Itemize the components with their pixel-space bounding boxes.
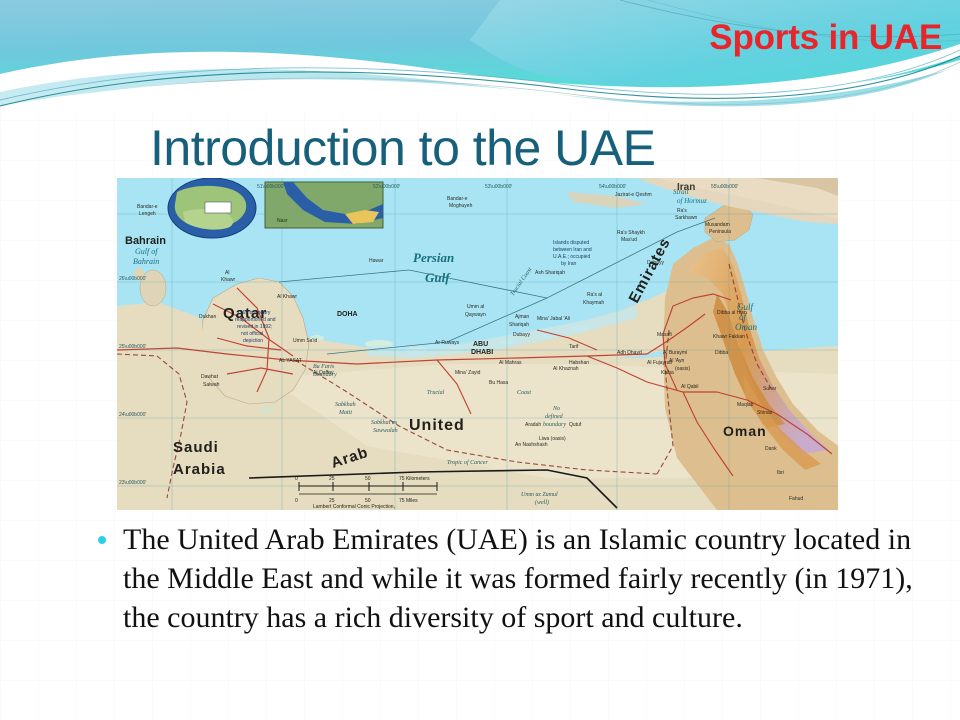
svg-text:Khawr Fakkan: Khawr Fakkan [713,334,745,340]
svg-text:Umm al: Umm al [467,304,484,310]
svg-text:Al Khaznah: Al Khaznah [553,366,579,372]
svg-text:Gulf: Gulf [425,270,451,285]
svg-text:Tarif: Tarif [569,344,579,350]
svg-text:(oasis): (oasis) [675,366,690,372]
svg-text:Moghuyeh: Moghuyeh [449,203,473,209]
svg-text:Khaymah: Khaymah [583,300,604,306]
svg-text:25\u00b000': 25\u00b000' [119,344,146,350]
svg-text:Ibri: Ibri [777,470,784,476]
svg-text:54\u00b000': 54\u00b000' [599,184,626,190]
svg-text:ABU: ABU [473,341,488,348]
svg-text:Bu Hasa: Bu Hasa [489,380,508,386]
svg-text:not official: not official [241,331,263,337]
svg-text:Al Buraymi: Al Buraymi [663,350,687,356]
svg-text:between Iran and: between Iran and [553,247,592,253]
svg-text:51\u00b000': 51\u00b000' [257,184,284,190]
svg-text:Adh Dhayd: Adh Dhayd [617,350,642,356]
svg-text:Ash Shariqah: Ash Shariqah [535,270,565,276]
svg-text:Oman: Oman [723,423,767,439]
svg-text:26\u00b000': 26\u00b000' [119,276,146,282]
bullet-point-icon [98,536,106,544]
globe-inset [168,178,256,238]
svg-text:Jazirat-e Qeshm: Jazirat-e Qeshm [615,192,652,198]
svg-text:AL YASAT: AL YASAT [279,358,302,364]
svg-text:0: 0 [295,498,298,504]
svg-text:Mina' Jabal 'Ali: Mina' Jabal 'Ali [537,316,570,322]
svg-text:Bahrain: Bahrain [125,235,166,247]
svg-text:Oman: Oman [735,322,757,332]
svg-text:23\u00b000': 23\u00b000' [119,480,146,486]
header-title: Sports in UAE [709,18,942,58]
svg-text:Bandar-e: Bandar-e [447,196,468,202]
svg-text:Hawar: Hawar [369,258,384,264]
svg-text:Ajman: Ajman [515,314,529,320]
svg-text:Persian: Persian [413,250,454,265]
svg-text:50: 50 [365,476,371,482]
svg-text:DOHA: DOHA [337,311,358,318]
svg-text:No: No [552,406,560,412]
svg-text:Trucial: Trucial [427,390,445,396]
svg-text:Bu Faris: Bu Faris [313,364,335,370]
svg-text:Dibba: Dibba [715,350,728,356]
content-body: The United Arab Emirates (UAE) is an Isl… [98,520,928,637]
svg-text:Dukhan: Dukhan [199,314,216,320]
svg-text:Ra's: Ra's [677,208,687,214]
svg-text:Bahrain: Bahrain [133,257,159,266]
svg-text:Ra's Shaykh: Ra's Shaykh [617,230,645,236]
svg-text:24\u00b000': 24\u00b000' [119,412,146,418]
slide-header-banner: Sports in UAE [0,0,960,112]
svg-text:Al Mahras: Al Mahras [499,360,522,366]
svg-text:Aradah: Aradah [525,422,541,428]
svg-text:Salwah: Salwah [203,382,220,388]
page-title: Introduction to the UAE [150,122,910,175]
svg-text:Umm az Zumul: Umm az Zumul [521,492,558,498]
svg-text:Shariqah: Shariqah [509,322,529,328]
svg-text:Coast: Coast [517,390,531,396]
svg-text:DHABI: DHABI [471,349,493,356]
svg-text:Tropic of Cancer: Tropic of Cancer [447,459,488,466]
svg-text:depiction: depiction [243,338,263,344]
svg-text:An Nashshash: An Nashshash [515,442,548,448]
svg-text:Matti: Matti [338,410,352,416]
svg-text:Musandam: Musandam [705,222,730,228]
svg-text:Dawhat: Dawhat [201,374,219,380]
svg-text:boundary: boundary [543,422,566,428]
svg-text:Nasr: Nasr [277,218,288,224]
svg-text:Boundary: Boundary [313,372,337,378]
svg-text:U.A.E.; occupied: U.A.E.; occupied [553,254,590,260]
svg-text:75 Kilometers: 75 Kilometers [399,476,430,482]
svg-text:0: 0 [295,476,298,482]
bullet-item: The United Arab Emirates (UAE) is an Isl… [98,520,928,637]
bullet-text: The United Arab Emirates (UAE) is an Isl… [123,520,928,637]
svg-text:Bandar-e: Bandar-e [137,204,158,210]
svg-text:of Hormuz: of Hormuz [677,197,707,205]
svg-text:Gulf of: Gulf of [135,247,159,256]
svg-text:Qutuf: Qutuf [569,422,582,428]
svg-text:Dank: Dank [765,446,777,452]
svg-text:Lengeh: Lengeh [139,211,156,217]
svg-text:Qaywayn: Qaywayn [465,312,486,318]
svg-text:Fahud: Fahud [789,496,803,502]
svg-text:Ar Ruways: Ar Ruways [435,340,460,346]
svg-text:(well): (well) [535,499,549,506]
svg-text:Maqlab: Maqlab [737,402,754,408]
svg-text:Sabkhah: Sabkhah [335,402,356,408]
svg-text:Arabia: Arabia [173,461,226,478]
svg-text:Masafi: Masafi [657,332,672,338]
svg-text:52\u00b000': 52\u00b000' [373,184,400,190]
svg-text:Sarkhawn: Sarkhawn [675,215,697,221]
svg-text:Sawwalah: Sawwalah [373,428,398,434]
svg-text:Shinas: Shinas [757,410,773,416]
uae-region-map: Persian Gulf Gulf of Oman Gulf of Bahrai… [117,178,838,510]
slide-canvas: Sports in UAE Introduction to the UAE [0,0,960,720]
svg-text:Dubayy: Dubayy [513,332,530,338]
svg-text:revised in 1992;: revised in 1992; [237,324,272,330]
svg-text:Al Fujayrah: Al Fujayrah [647,360,673,366]
svg-text:Islands disputed: Islands disputed [553,240,589,246]
svg-text:Umm Sa'id: Umm Sa'id [293,338,318,344]
svg-text:1965 boundary: 1965 boundary [237,310,271,316]
svg-text:Saudi: Saudi [173,439,219,456]
svg-text:53\u00b000': 53\u00b000' [485,184,512,190]
svg-text:United: United [409,417,465,434]
svg-text:defined: defined [545,413,564,420]
svg-text:Mina' Zayid: Mina' Zayid [455,370,481,376]
svg-text:by Iran: by Iran [561,261,577,267]
map-graphic: Persian Gulf Gulf of Oman Gulf of Bahrai… [117,178,838,510]
svg-text:Al Khawr: Al Khawr [277,294,297,300]
svg-text:Ra's al: Ra's al [587,292,602,298]
svg-text:Kalba: Kalba [661,370,674,376]
svg-text:Khawr: Khawr [221,277,236,283]
svg-text:Dubayy: Dubayy [647,260,664,266]
svg-text:75 Miles: 75 Miles [399,498,418,504]
svg-text:Iran: Iran [677,182,695,193]
svg-text:Sabkhat as: Sabkhat as [371,420,398,426]
svg-text:Peninsula: Peninsula [709,229,731,235]
svg-text:Mas'ud: Mas'ud [621,237,637,243]
svg-text:Al: Al [225,270,229,276]
svg-text:reapportioned and: reapportioned and [235,317,276,323]
svg-text:Dibba al Hisn: Dibba al Hisn [717,310,747,316]
svg-text:Suhar: Suhar [763,386,777,392]
svg-text:25: 25 [329,476,335,482]
svg-text:Al Qabil: Al Qabil [681,384,699,390]
svg-text:55\u00b000': 55\u00b000' [711,184,738,190]
